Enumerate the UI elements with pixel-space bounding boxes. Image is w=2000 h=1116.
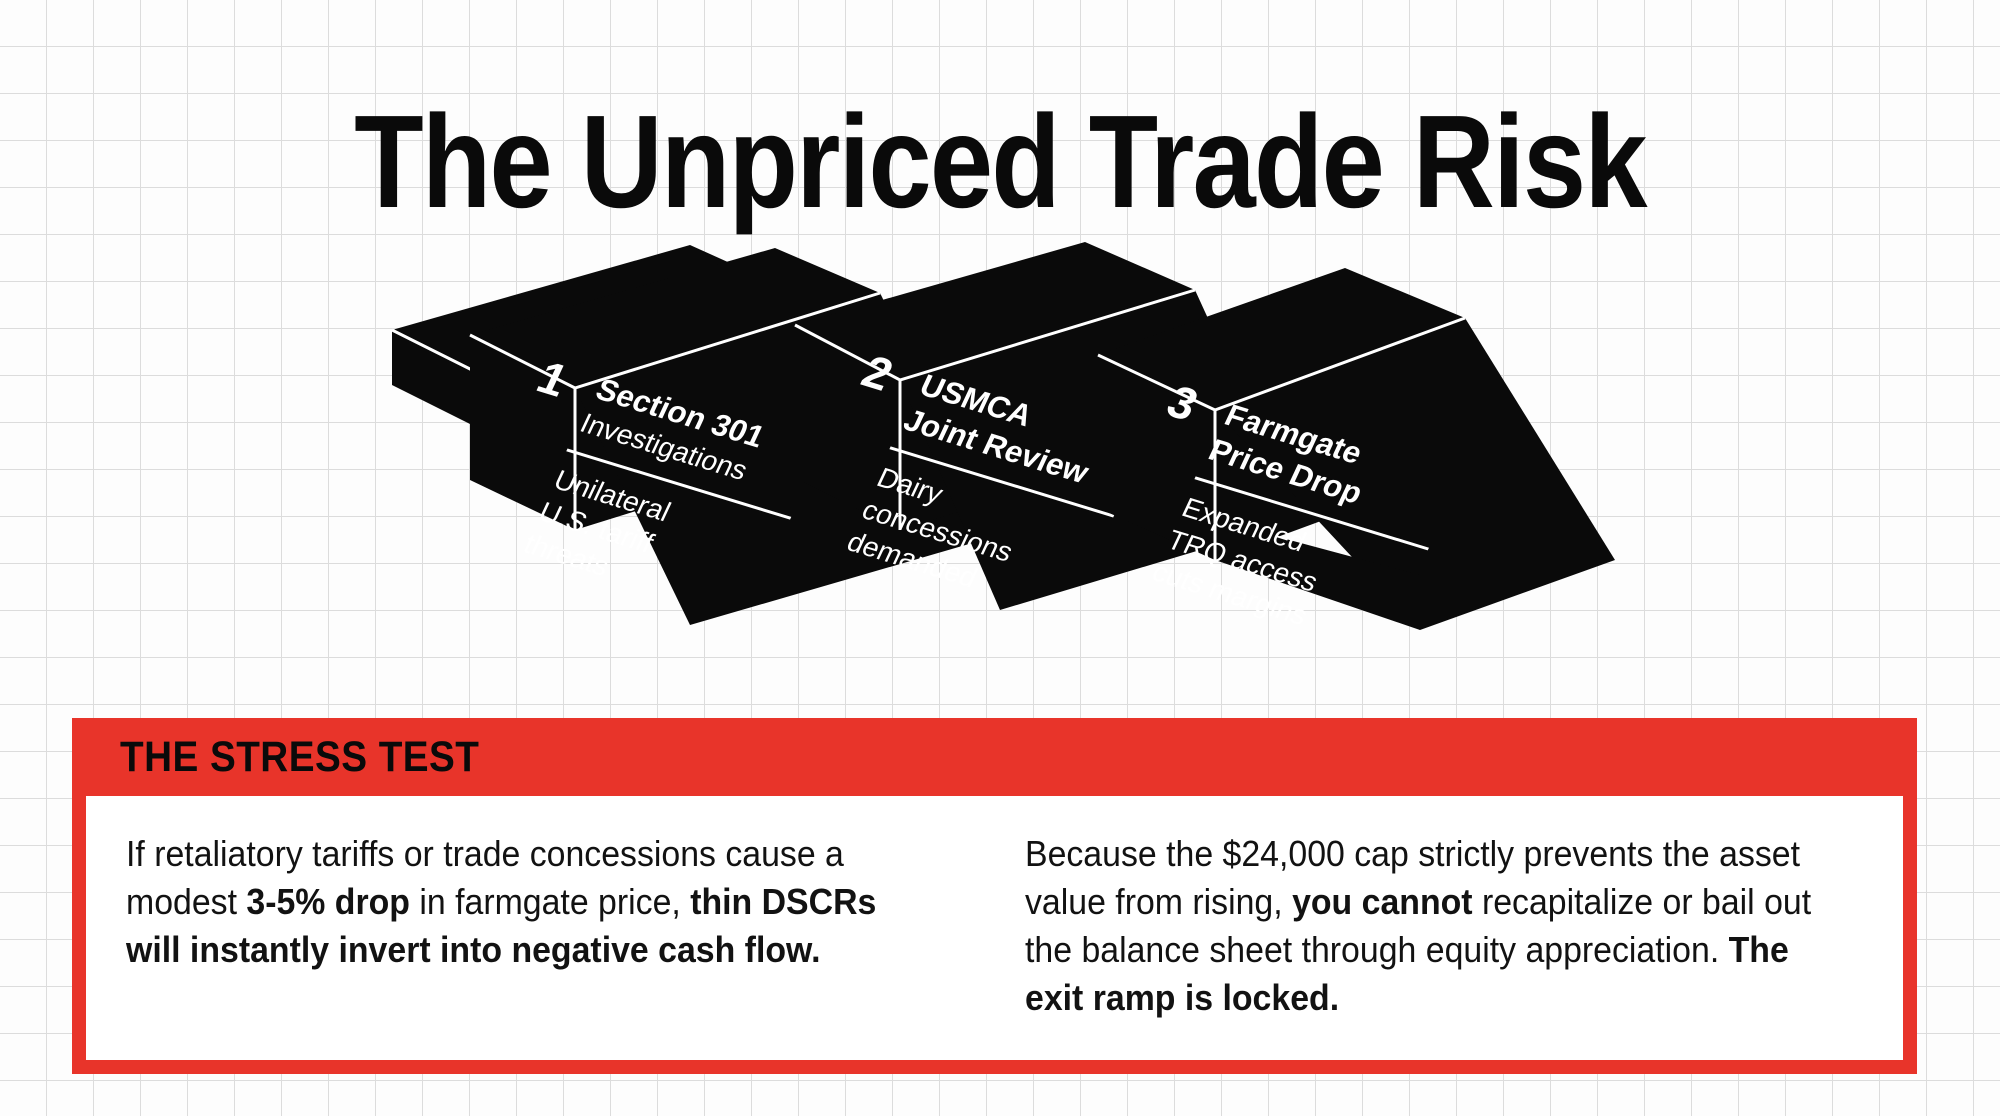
page-title: The Unpriced Trade Risk	[140, 96, 1860, 228]
domino-illustration: 1 Section 301 Investigations Unilateral …	[0, 230, 2000, 650]
stress-test-panel: THE STRESS TEST If retaliatory tariffs o…	[72, 718, 1917, 1074]
infographic-root: The Unpriced Trade Risk	[0, 0, 2000, 1116]
stress-test-header-label: THE STRESS TEST	[120, 733, 479, 782]
stress-test-right-paragraph: Because the $24,000 cap strictly prevent…	[1025, 830, 1813, 1022]
stress-test-header: THE STRESS TEST	[72, 718, 1917, 796]
stress-test-left-paragraph: If retaliatory tariffs or trade concessi…	[126, 830, 914, 1022]
stress-test-body: If retaliatory tariffs or trade concessi…	[86, 796, 1903, 1060]
